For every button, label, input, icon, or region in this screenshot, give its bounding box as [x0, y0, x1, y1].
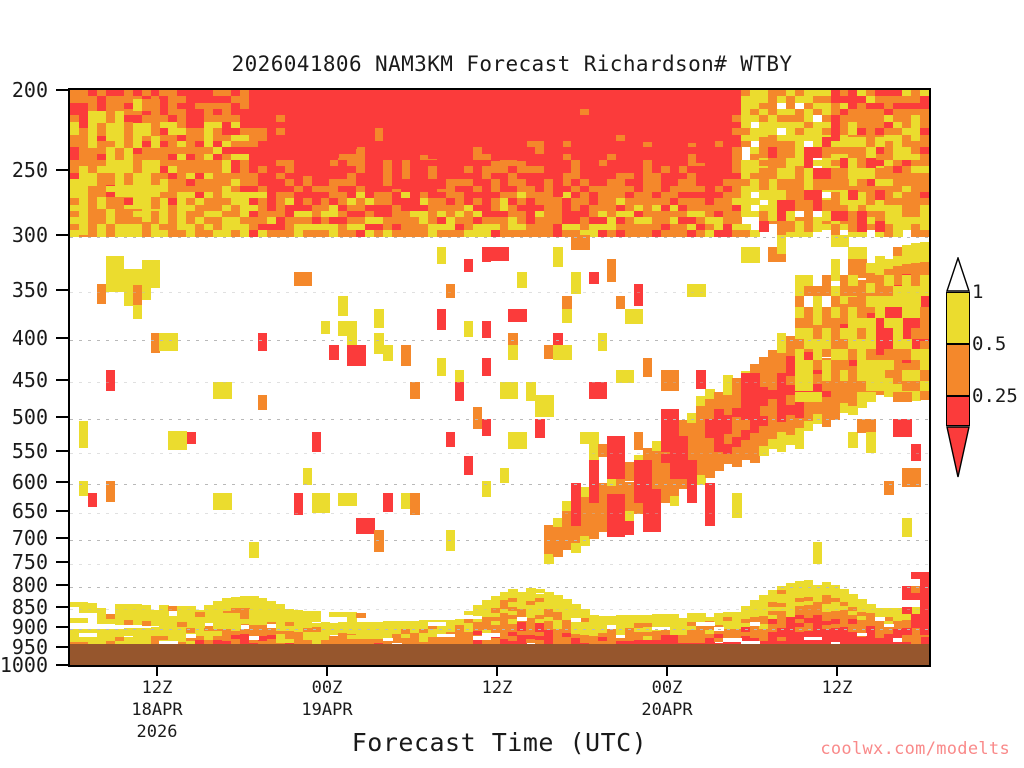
y-tick-label: 400 [12, 326, 48, 350]
colorbar-cap-bottom [946, 426, 970, 478]
y-tick-mark [56, 481, 68, 483]
x-tick-label: 00Z [312, 678, 343, 698]
plot-area [68, 88, 931, 667]
gridline [70, 340, 929, 341]
y-tick-mark [56, 416, 68, 418]
gridline [70, 629, 929, 630]
gridline-minor [70, 609, 929, 610]
x-axis-ticks [68, 667, 931, 676]
colorbar-band [946, 292, 970, 344]
y-tick-mark [56, 450, 68, 452]
y-tick-label: 500 [12, 405, 48, 429]
x-tick-label: 20APR [641, 700, 692, 720]
x-tick-mark [496, 667, 498, 676]
x-tick-label: 19APR [301, 700, 352, 720]
gridline-minor [70, 292, 929, 293]
gridline-minor [70, 513, 929, 514]
y-tick-label: 800 [12, 573, 48, 597]
colorbar-tick-label: 0.25 [972, 385, 1018, 407]
y-tick-label: 600 [12, 470, 48, 494]
x-tick-label: 12Z [822, 678, 853, 698]
y-tick-label: 300 [12, 223, 48, 247]
colorbar-band [946, 344, 970, 396]
gridline [70, 484, 929, 485]
terrain-band [70, 644, 929, 665]
y-tick-mark [56, 561, 68, 563]
colorbar-tick-label: 0.5 [972, 333, 1006, 355]
x-tick-label: 12Z [142, 678, 173, 698]
y-tick-label: 450 [12, 368, 48, 392]
y-tick-mark [56, 646, 68, 648]
x-tick-label: 00Z [652, 678, 683, 698]
y-tick-label: 650 [12, 499, 48, 523]
y-tick-mark [56, 606, 68, 608]
gridline [70, 237, 929, 238]
x-tick-mark [836, 667, 838, 676]
y-tick-label: 700 [12, 526, 48, 550]
colorbar [946, 292, 970, 448]
y-axis-labels: 2002503003504004505005506006507007508008… [0, 88, 62, 667]
gridlines [70, 90, 929, 665]
x-tick-label: 18APR [131, 700, 182, 720]
colorbar-cap-top-outline [946, 257, 970, 292]
y-tick-mark [56, 289, 68, 291]
watermark: coolwx.com/modelts [0, 739, 1010, 759]
y-tick-mark [56, 337, 68, 339]
gridline [70, 419, 929, 420]
gridline-minor [70, 453, 929, 454]
gridline [70, 587, 929, 588]
x-tick-mark [156, 667, 158, 676]
gridline-minor [70, 382, 929, 383]
gridline [70, 540, 929, 541]
y-axis-ticks [56, 88, 68, 667]
x-tick-label: 12Z [482, 678, 513, 698]
y-tick-mark [56, 664, 68, 666]
y-tick-mark [56, 626, 68, 628]
y-tick-label: 1000 [0, 653, 48, 677]
y-tick-label: 750 [12, 550, 48, 574]
y-tick-mark [56, 169, 68, 171]
gridline-minor [70, 564, 929, 565]
colorbar-band [946, 396, 970, 426]
colorbar-tick-label: 1 [972, 281, 983, 303]
figure-canvas: 2026041806 NAM3KM Forecast Richardson# W… [0, 0, 1024, 768]
x-tick-mark [326, 667, 328, 676]
x-tick-mark [666, 667, 668, 676]
y-tick-label: 250 [12, 158, 48, 182]
y-tick-mark [56, 379, 68, 381]
y-tick-label: 350 [12, 278, 48, 302]
y-tick-mark [56, 584, 68, 586]
y-tick-mark [56, 89, 68, 91]
y-tick-mark [56, 510, 68, 512]
y-tick-label: 550 [12, 439, 48, 463]
y-tick-mark [56, 537, 68, 539]
y-tick-label: 200 [12, 78, 48, 102]
y-tick-mark [56, 234, 68, 236]
chart-title: 2026041806 NAM3KM Forecast Richardson# W… [0, 52, 1024, 76]
colorbar-labels: 10.50.25 [972, 292, 1024, 472]
